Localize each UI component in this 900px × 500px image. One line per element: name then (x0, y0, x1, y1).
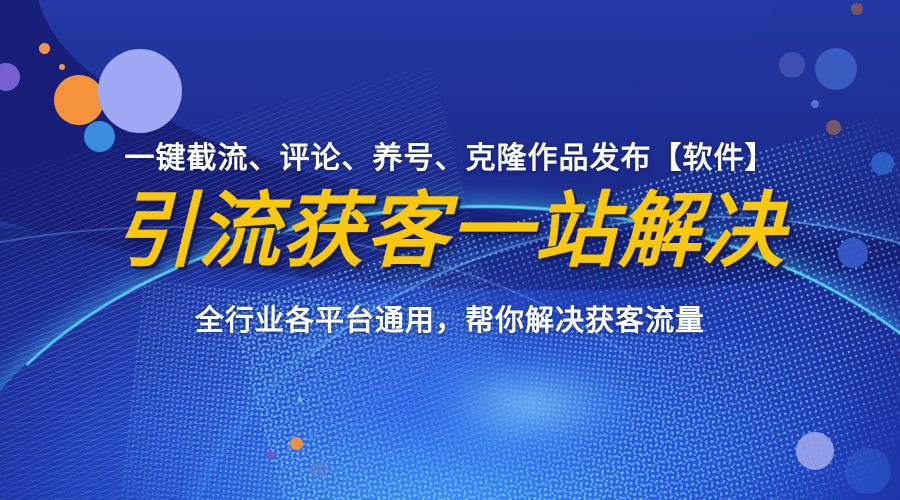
headline-main: 引流获客一站解决 (114, 191, 786, 273)
promo-banner: 一键截流、评论、养号、克隆作品发布【软件】 引流获客一站解决 全行业各平台通用，… (0, 0, 900, 500)
headline-top: 一键截流、评论、养号、克隆作品发布【软件】 (125, 133, 776, 177)
banner-content: 一键截流、评论、养号、克隆作品发布【软件】 引流获客一站解决 全行业各平台通用，… (0, 0, 900, 500)
headline-bottom: 全行业各平台通用，帮你解决获客流量 (195, 297, 705, 339)
